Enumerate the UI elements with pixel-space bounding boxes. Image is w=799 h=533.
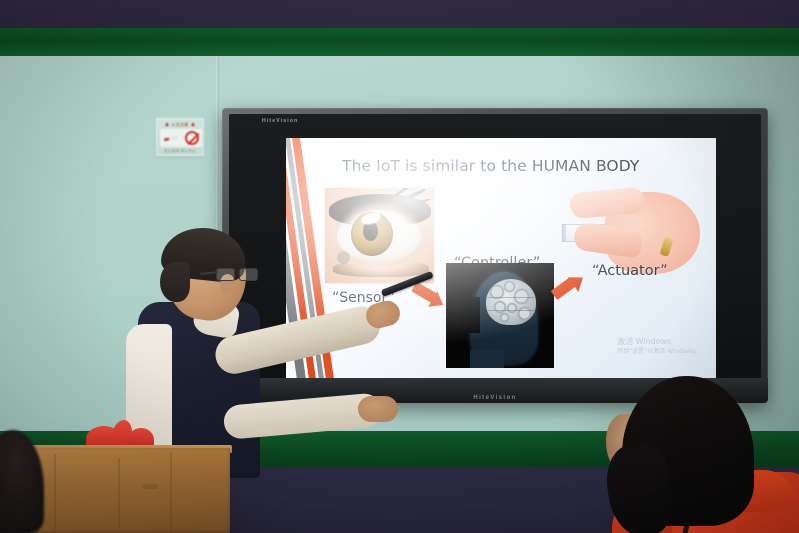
presenter-resting-hand — [358, 396, 398, 422]
wooden-lectern — [30, 448, 230, 533]
gear-icon — [507, 303, 517, 313]
windows-activation-watermark: 激活 Windows 转到“设置”以激活 Windows。 — [617, 337, 700, 356]
sign-pictogram — [160, 129, 202, 147]
face-profile-cutout — [462, 297, 480, 333]
display-brand-top: HiteVision — [262, 118, 298, 124]
watermark-line-1: 激活 Windows — [617, 337, 700, 348]
watermark-line-2: 转到“设置”以激活 Windows。 — [617, 348, 700, 356]
gear-icon — [494, 301, 506, 313]
gear-icon — [518, 307, 531, 320]
cigarette-icon — [164, 136, 178, 142]
warning-triangle-icon — [191, 122, 195, 126]
prohibition-icon — [185, 131, 199, 145]
upper-green-stripe — [0, 28, 799, 57]
gear-icon — [500, 313, 509, 322]
audience-member-right — [604, 374, 799, 533]
controller-brain-image — [446, 263, 554, 368]
presenter-hair-side — [160, 262, 190, 302]
lecture-room-photo: 火灾注意 禁止吸烟·明火作业 HiteVision The IoT is sim… — [0, 0, 799, 533]
presenter — [120, 228, 370, 478]
glasses-lens — [216, 268, 235, 281]
glasses-icon — [216, 268, 258, 283]
sign-header-label: 火灾注意 — [171, 122, 188, 127]
slide-title: The IoT is similar to the HUMAN BODY — [342, 157, 639, 175]
gear-brain — [486, 279, 536, 325]
ceiling-band — [0, 0, 799, 30]
warning-triangle-icon — [165, 122, 169, 126]
gear-icon — [504, 281, 515, 292]
sign-header: 火灾注意 — [157, 121, 203, 127]
glasses-lens — [239, 268, 258, 281]
sign-footer-label: 禁止吸烟·明火作业 — [157, 149, 203, 154]
neck — [470, 350, 504, 368]
label-actuator: “Actuator” — [592, 263, 668, 279]
no-smoking-sign: 火灾注意 禁止吸烟·明火作业 — [156, 118, 204, 156]
